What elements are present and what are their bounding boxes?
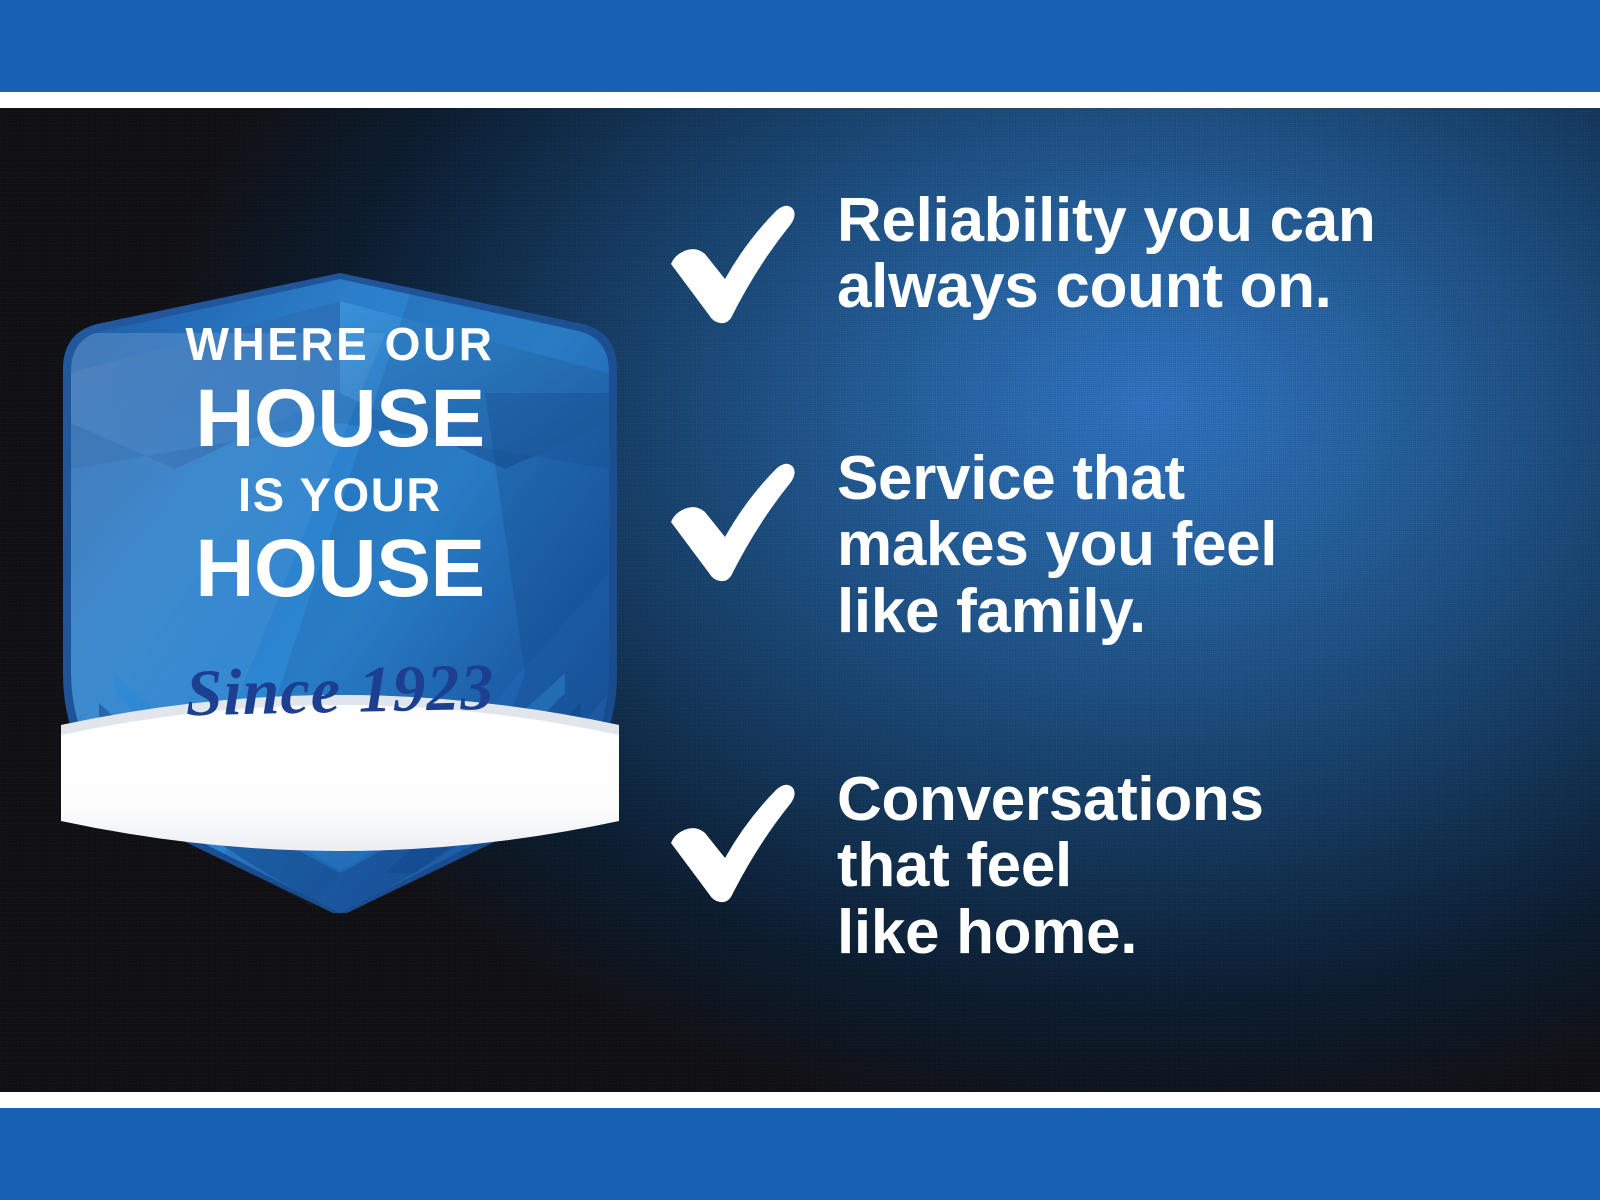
- benefit-text: Reliability you can always count on.: [837, 188, 1545, 321]
- shield-badge: Where Our House Is Your House Since 1923: [55, 273, 625, 913]
- benefit-text: Conversations that feel like home.: [837, 767, 1545, 966]
- bottom-band-divider: [0, 1092, 1600, 1108]
- benefit-item: Conversations that feel like home.: [665, 767, 1545, 966]
- top-brand-band: [0, 0, 1600, 92]
- bottom-brand-band: [0, 1108, 1600, 1200]
- hero-stage: Where Our House Is Your House Since 1923…: [0, 108, 1600, 1092]
- top-band-divider: [0, 92, 1600, 108]
- checkmark-icon: [665, 779, 797, 903]
- benefit-item: Reliability you can always count on.: [665, 188, 1545, 324]
- benefit-text: Service that makes you feel like family.: [837, 446, 1545, 645]
- promo-graphic: Where Our House Is Your House Since 1923…: [0, 0, 1600, 1200]
- benefit-item: Service that makes you feel like family.: [665, 446, 1545, 645]
- benefits-list: Reliability you can always count on. Ser…: [665, 188, 1545, 966]
- checkmark-icon: [665, 458, 797, 582]
- checkmark-icon: [665, 200, 797, 324]
